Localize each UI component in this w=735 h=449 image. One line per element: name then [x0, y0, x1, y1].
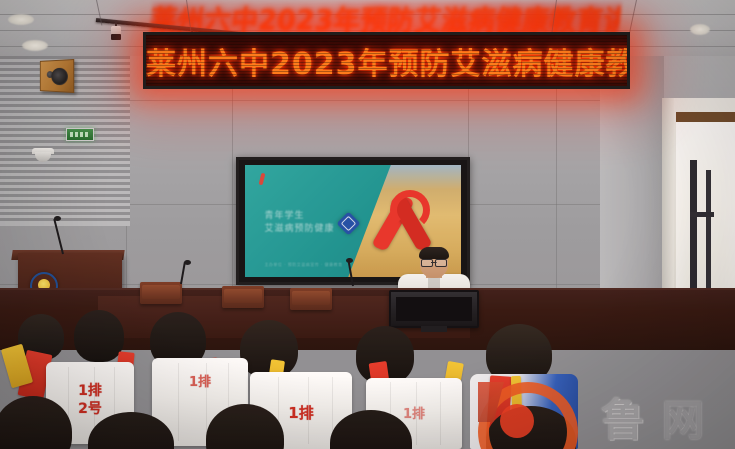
photo-scene: 莱州六中2023年预防艾滋病健康教育讲座 [0, 0, 735, 449]
wall-mounted-loudspeaker [40, 59, 74, 93]
watermark-logo-icon [478, 382, 556, 449]
door-lintel [676, 112, 735, 122]
slide-logo-mark [258, 173, 266, 185]
eyeglasses [421, 259, 447, 265]
led-banner: 莱州六中2023年预防艾滋病健康教育讲座 [143, 32, 630, 89]
microphone-head [184, 260, 191, 265]
student-head [74, 310, 124, 362]
slide-title-line2: 艾滋病预防健康 [264, 223, 334, 236]
dome-security-camera [32, 148, 54, 162]
slide-title-line1: 青年学生 [264, 210, 334, 223]
chair-cover-row-label: 1排 [152, 376, 248, 390]
microphone-head [54, 216, 61, 221]
door-handle[interactable] [690, 212, 714, 217]
emergency-exit-sign [66, 128, 94, 141]
slide-title-text: 青年学生 艾滋病预防健康 [264, 210, 334, 236]
watermark-text-wang: 网 [654, 396, 712, 446]
chair-cover-row-label: 1排 [46, 384, 134, 399]
microphone-head [346, 258, 353, 263]
led-scanline-overlay [146, 35, 627, 86]
slide-footer-text: 主办单位 · 预防艾滋病宣传 · 健康教育 [264, 262, 342, 268]
watermark-text-lu: 鲁 [592, 396, 654, 446]
ceiling-spotlight [110, 22, 122, 39]
